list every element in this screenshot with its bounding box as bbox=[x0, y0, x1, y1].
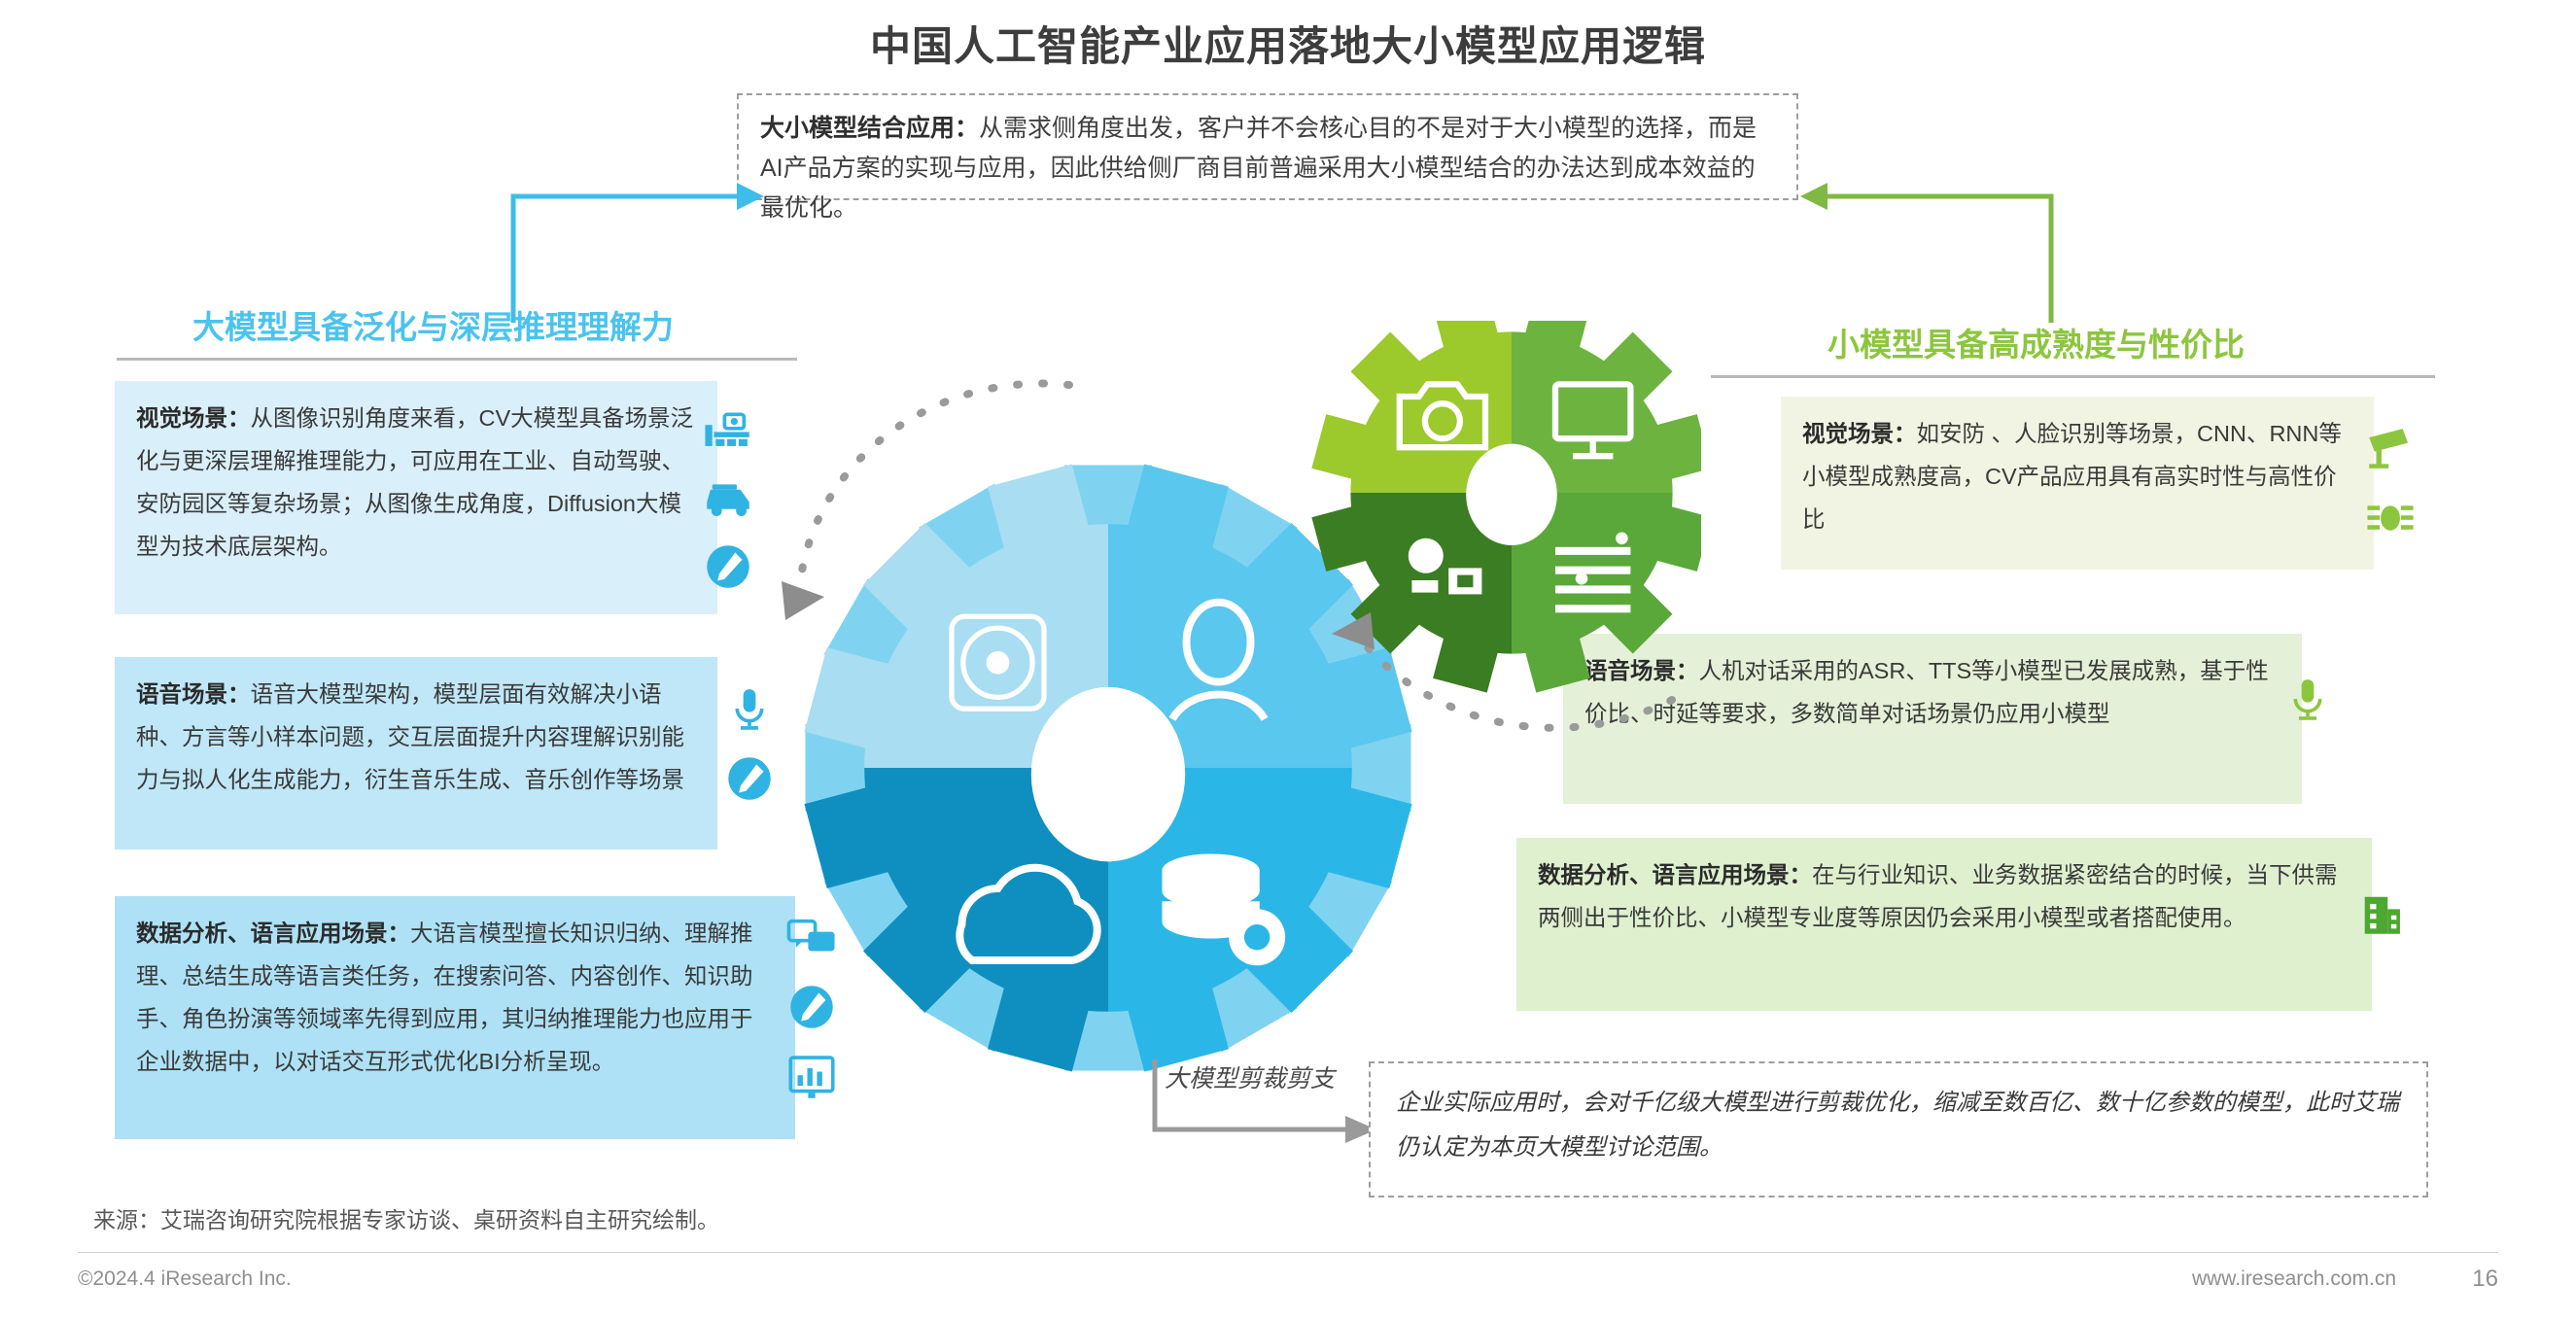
building-icon bbox=[2352, 885, 2409, 941]
footer-page-number: 16 bbox=[2472, 1266, 2498, 1293]
right-box-visual-label: 视觉场景： bbox=[1802, 421, 1917, 446]
page-title: 中国人工智能产业应用落地大小模型应用逻辑 bbox=[0, 14, 2576, 73]
source-note: 来源：艾瑞咨询研究院根据专家访谈、桌研资料自主研究绘制。 bbox=[93, 1201, 719, 1234]
left-heading-rule bbox=[117, 358, 797, 361]
large-model-gear bbox=[804, 464, 1411, 1071]
microphone-icon bbox=[2280, 671, 2336, 727]
left-box-speech: 语音场景：语音大模型架构，模型层面有效解决小语种、方言等小样本问题，交互层面提升… bbox=[115, 657, 717, 850]
face-recognition-icon bbox=[2362, 490, 2419, 546]
top-callout-box: 大小模型结合应用：从需求侧角度出发，客户并不会核心目的不是对于大小模型的选择，而… bbox=[737, 93, 1798, 200]
bottom-callout-text: 企业实际应用时，会对千亿级大模型进行剪裁优化，缩减至数百亿、数十亿参数的模型，此… bbox=[1396, 1090, 2399, 1161]
footer-divider bbox=[78, 1252, 2498, 1253]
right-box-speech-icons bbox=[2280, 671, 2336, 727]
right-column-heading: 小模型具备高成熟度与性价比 bbox=[1828, 319, 2245, 365]
left-box-data-label: 数据分析、语言应用场景： bbox=[136, 920, 410, 946]
footer-copyright: ©2024.4 iResearch Inc. bbox=[78, 1267, 292, 1291]
cctv-camera-icon bbox=[2362, 420, 2419, 476]
left-box-visual-label: 视觉场景： bbox=[136, 405, 251, 431]
top-callout-label: 大小模型结合应用： bbox=[760, 115, 979, 142]
right-box-visual-icons bbox=[2362, 420, 2419, 546]
right-connector-arrow bbox=[1796, 175, 2059, 330]
left-column-heading: 大模型具备泛化与深层推理理解力 bbox=[192, 301, 674, 348]
left-box-visual: 视觉场景：从图像识别角度来看，CV大模型具备场景泛化与更深层理解推理能力，可应用… bbox=[115, 381, 717, 614]
left-box-data: 数据分析、语言应用场景：大语言模型擅长知识归纳、理解推理、总结生成等语言类任务，… bbox=[115, 896, 795, 1139]
right-box-visual: 视觉场景：如安防 、人脸识别等场景，CNN、RNN等小模型成熟度高，CV产品应用… bbox=[1781, 397, 2374, 570]
left-box-speech-label: 语音场景： bbox=[136, 681, 251, 707]
prune-arrow bbox=[1149, 1059, 1382, 1176]
right-box-data-icons bbox=[2352, 885, 2409, 941]
bottom-callout-box: 企业实际应用时，会对千亿级大模型进行剪裁优化，缩减至数百亿、数十亿参数的模型，此… bbox=[1369, 1061, 2428, 1198]
center-gear-graphic bbox=[748, 321, 1701, 1098]
right-heading-rule bbox=[1711, 375, 2435, 378]
footer-website: www.iresearch.com.cn bbox=[2192, 1267, 2396, 1291]
slide-canvas: 中国人工智能产业应用落地大小模型应用逻辑 大小模型结合应用：从需求侧角度出发，客… bbox=[0, 0, 2576, 1319]
